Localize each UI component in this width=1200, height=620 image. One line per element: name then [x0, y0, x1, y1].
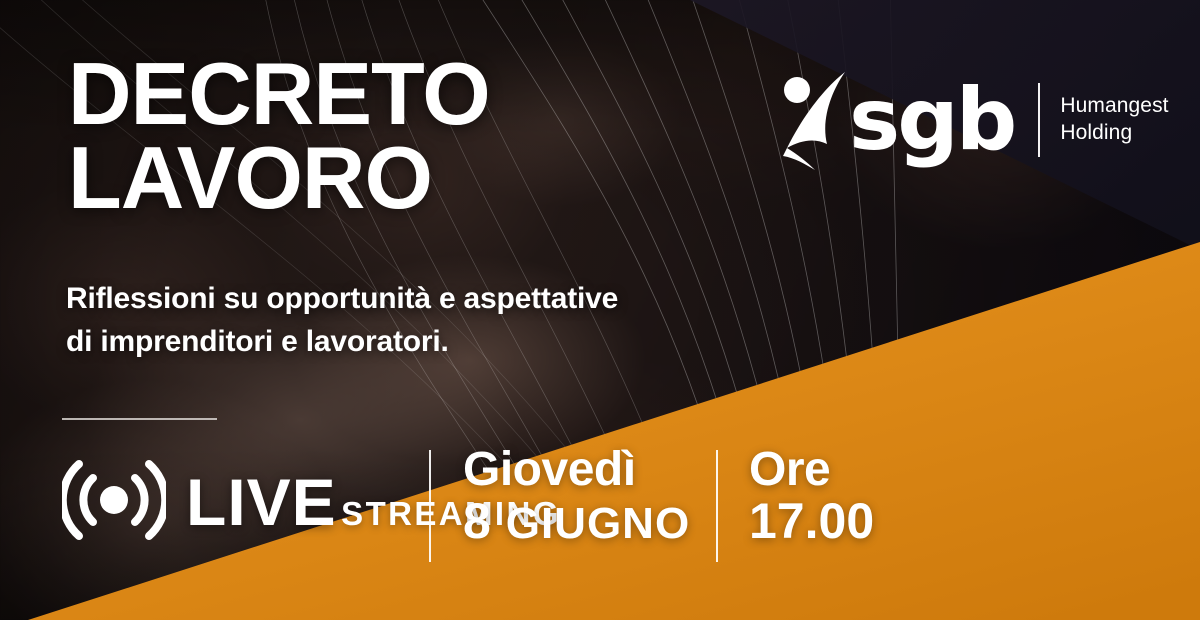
promo-banner: DECRETO LAVORO Riflessioni su opportunit… — [0, 0, 1200, 620]
broadcast-waves-icon — [62, 448, 166, 557]
event-date: Giovedì 8 GIUGNO — [463, 446, 690, 547]
divider-rule — [62, 418, 217, 420]
event-month: GIUGNO — [506, 499, 690, 548]
sgb-figure-swoosh-icon — [775, 70, 853, 170]
logo-tagline: Humangest Holding — [1060, 93, 1168, 147]
event-time: Ore 17.00 — [749, 446, 874, 547]
event-weekday: Giovedì — [463, 446, 690, 495]
event-day: 8 — [463, 493, 492, 549]
separator-before-time — [716, 450, 718, 562]
sgb-logo: sgb Humangest Holding — [775, 70, 1169, 170]
title-line-2: LAVORO — [68, 136, 490, 220]
sgb-wordmark: sgb — [849, 86, 1014, 155]
logo-tagline-line-1: Humangest — [1060, 93, 1168, 120]
title-line-1: DECRETO — [68, 52, 490, 136]
event-day-month: 8 GIUGNO — [463, 495, 690, 547]
event-time-value: 17.00 — [749, 495, 874, 547]
event-time-label: Ore — [749, 446, 874, 495]
page-title: DECRETO LAVORO — [68, 52, 490, 221]
subtitle-line-1: Riflessioni su opportunità e aspettative — [66, 278, 618, 321]
logo-divider — [1038, 83, 1040, 157]
separator-before-date — [429, 450, 431, 562]
live-label: LIVE — [186, 465, 337, 539]
subtitle: Riflessioni su opportunità e aspettative… — [66, 278, 618, 363]
logo-tagline-line-2: Holding — [1060, 120, 1168, 147]
subtitle-line-2: di imprenditori e lavoratori. — [66, 321, 618, 364]
